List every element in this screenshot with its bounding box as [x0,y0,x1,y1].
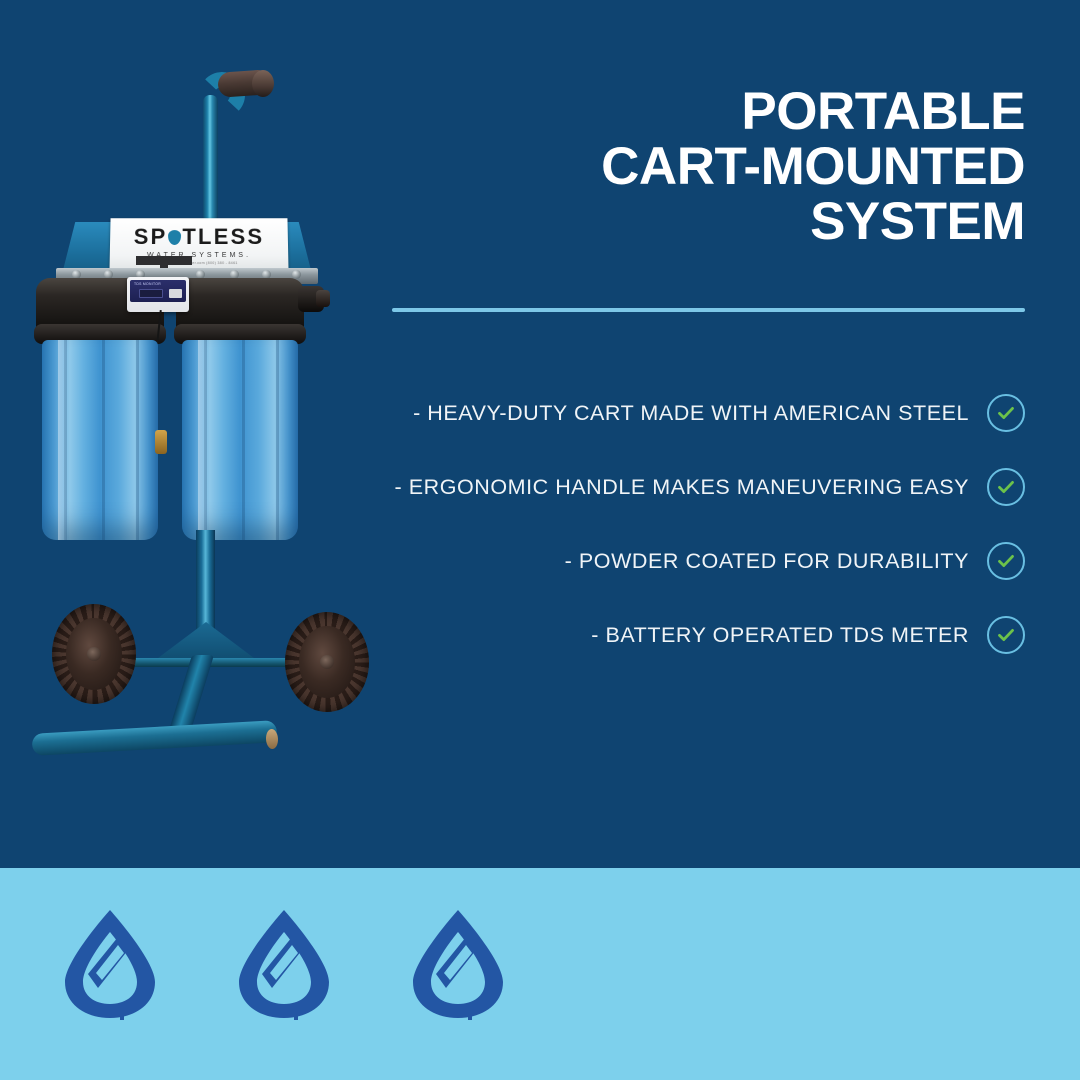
canister-ridge [204,340,207,540]
filter-canister-left [42,340,158,540]
wheel-right [285,612,369,712]
brand-wordmark: SP TLESS [134,226,265,248]
wheel-hub [299,626,355,698]
feature-item: - HEAVY-DUTY CART MADE WITH AMERICAN STE… [380,376,1025,450]
page-title: PORTABLE CART-MOUNTED SYSTEM [380,84,1025,249]
feature-list: - HEAVY-DUTY CART MADE WITH AMERICAN STE… [380,376,1025,672]
outlet-port-nut [316,290,330,307]
tds-meter-face: TDS MONITOR [130,280,186,302]
water-drop-logo-icon [58,904,162,1024]
feature-label: - ERGONOMIC HANDLE MAKES MANEUVERING EAS… [395,475,969,500]
handle-grip-cap [252,70,274,97]
promo-banner: SP TLESS WATER SYSTEMS. www.spotlesswate… [0,0,1080,1080]
content-panel: PORTABLE CART-MOUNTED SYSTEM - HEAVY-DUT… [380,0,1025,870]
water-drop-icon [168,230,181,245]
bottom-bar [32,720,278,756]
check-circle-icon [987,542,1025,580]
canister-ridge [102,340,105,540]
canister-ridge [276,340,279,540]
title-line-2: CART-MOUNTED [380,139,1025,194]
brand-text-part1: SP [134,226,168,248]
check-circle-icon [987,616,1025,654]
wheel-left [52,604,136,704]
wheel-center [320,655,334,669]
wheel-center [87,647,101,661]
feature-label: - HEAVY-DUTY CART MADE WITH AMERICAN STE… [413,401,969,426]
feature-label: - BATTERY OPERATED TDS METER [591,623,969,648]
water-drop-logo-icon [232,904,336,1024]
tds-meter-title: TDS MONITOR [130,280,186,286]
title-divider [392,308,1025,312]
filter-canister-right [182,340,298,540]
check-circle-icon [987,468,1025,506]
tds-meter-button [169,289,182,298]
title-line-1: PORTABLE [380,84,1025,139]
brass-fitting [155,430,167,454]
footer-logo-row [58,904,510,1024]
tds-meter-screen [139,289,163,298]
footer-bar [0,868,1080,1080]
feature-item: - POWDER COATED FOR DURABILITY [380,524,1025,598]
brand-text-part2: TLESS [182,226,264,248]
wheel-hub [66,618,122,690]
canister-ridge [242,340,245,540]
canister-ridge [64,340,67,540]
water-drop-logo-icon [406,904,510,1024]
feature-label: - POWDER COATED FOR DURABILITY [565,549,969,574]
check-circle-icon [987,394,1025,432]
feature-item: - BATTERY OPERATED TDS METER [380,598,1025,672]
tds-meter: TDS MONITOR [127,277,189,312]
title-line-3: SYSTEM [380,194,1025,249]
product-image: SP TLESS WATER SYSTEMS. www.spotlesswate… [0,0,390,870]
feature-item: - ERGONOMIC HANDLE MAKES MANEUVERING EAS… [380,450,1025,524]
canister-ridge [136,340,139,540]
